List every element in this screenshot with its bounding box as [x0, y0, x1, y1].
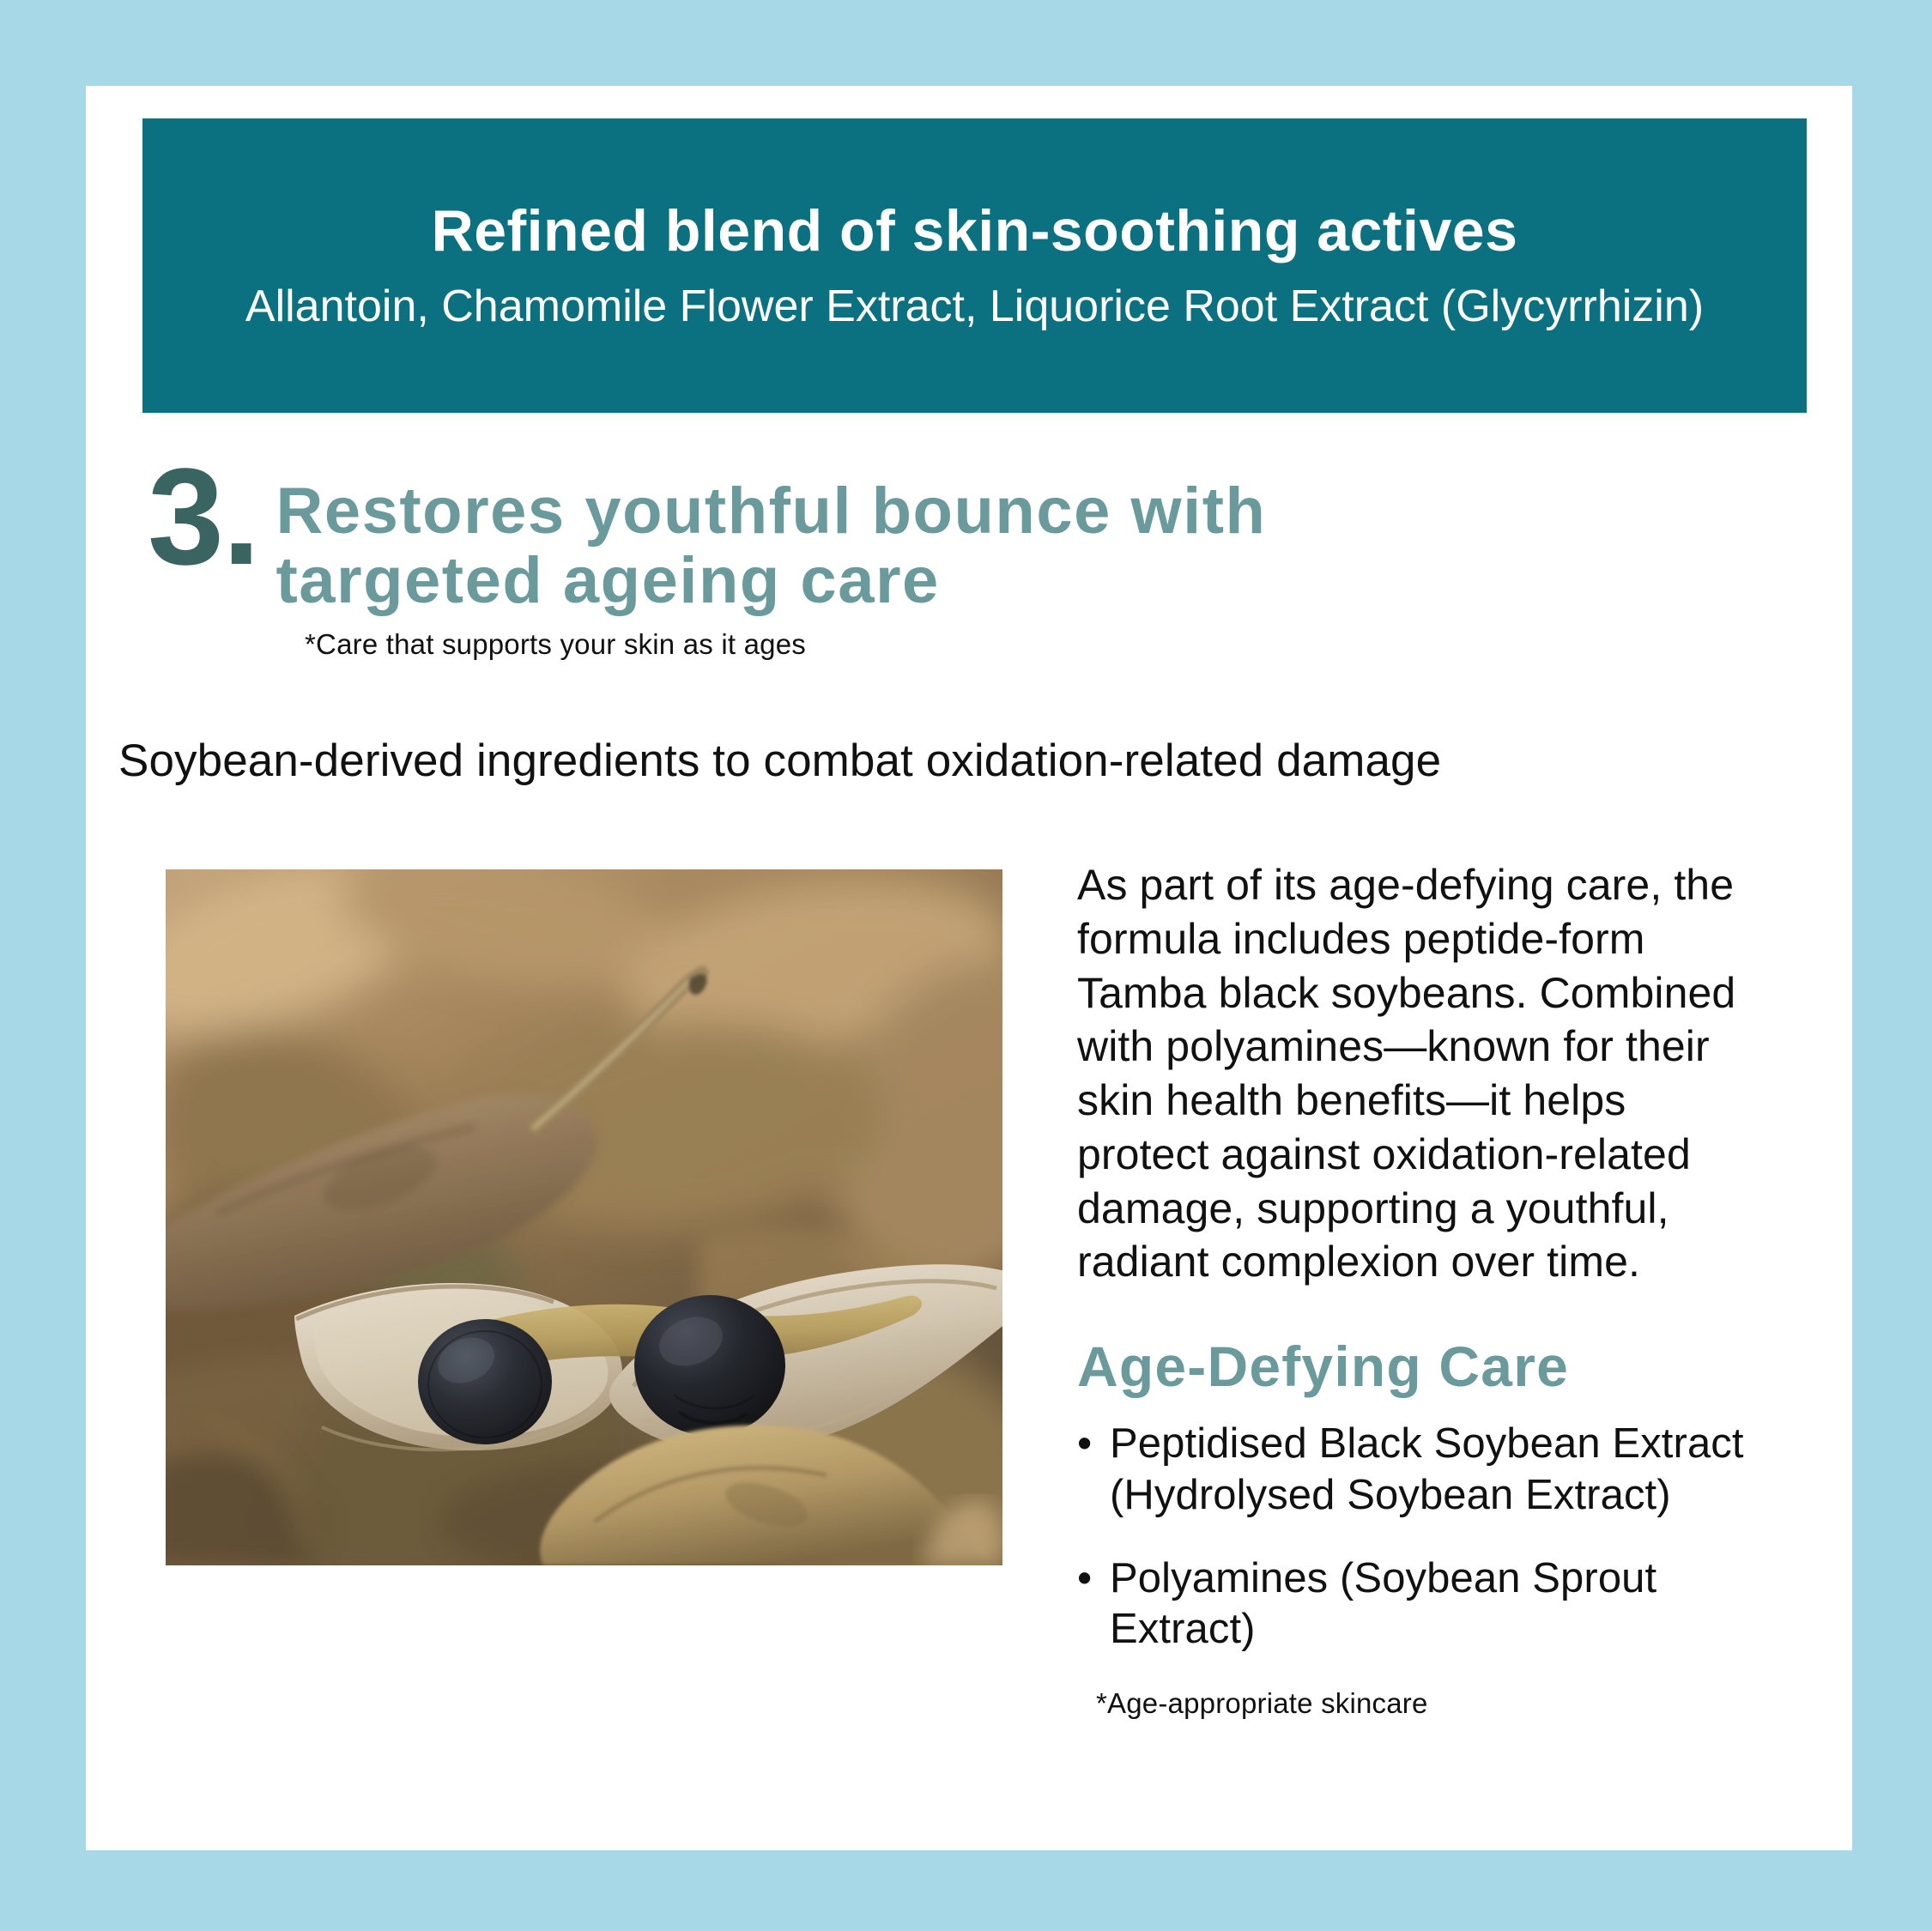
bullet-icon: •: [1077, 1419, 1092, 1469]
heading-footnote: *Care that supports your skin as it ages: [305, 628, 806, 661]
soybean-photo: [166, 869, 1002, 1565]
section-number: 3.: [148, 460, 276, 572]
banner-subtitle: Allantoin, Chamomile Flower Extract, Liq…: [245, 280, 1704, 333]
banner-title: Refined blend of skin-soothing actives: [432, 197, 1518, 264]
ingredients-footnote: *Age-appropriate skincare: [1096, 1687, 1764, 1720]
soybean-photo-illustration: [166, 869, 1002, 1565]
list-item: • Polyamines (Soybean Sprout Extract): [1077, 1553, 1764, 1656]
list-item-label: Peptidised Black Soybean Extract (Hydrol…: [1110, 1420, 1744, 1517]
ingredients-list: • Peptidised Black Soybean Extract (Hydr…: [1077, 1419, 1764, 1655]
right-column: As part of its age-defying care, the for…: [1077, 858, 1764, 1720]
list-item: • Peptidised Black Soybean Extract (Hydr…: [1077, 1419, 1764, 1521]
lead-line: Soybean-derived ingredients to combat ox…: [118, 735, 1441, 787]
header-banner: Refined blend of skin-soothing actives A…: [142, 118, 1807, 413]
content-card: Refined blend of skin-soothing actives A…: [86, 86, 1852, 1850]
section-heading-row: 3. Restores youthful bounce with targete…: [148, 472, 1778, 615]
ingredients-subheading: Age-Defying Care: [1077, 1337, 1764, 1396]
poster-page: Refined blend of skin-soothing actives A…: [0, 0, 1932, 1931]
list-item-label: Polyamines (Soybean Sprout Extract): [1110, 1555, 1656, 1652]
body-paragraph: As part of its age-defying care, the for…: [1077, 858, 1764, 1289]
section-heading: Restores youthful bounce with targeted a…: [276, 477, 1408, 615]
bullet-icon: •: [1077, 1553, 1092, 1604]
